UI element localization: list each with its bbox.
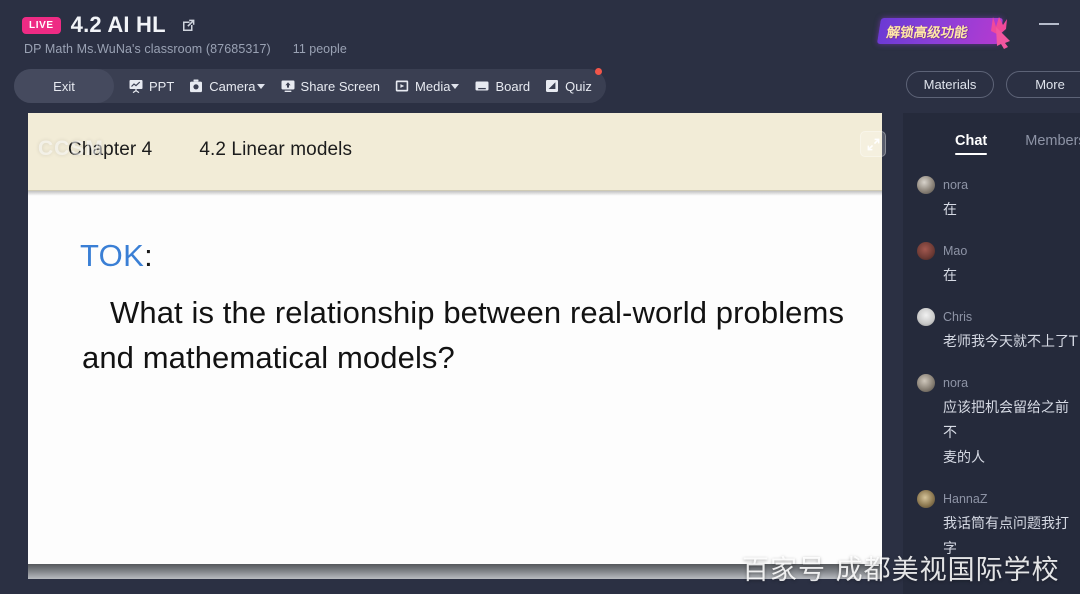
chat-message-text: 老师我今天就不上了T: [917, 327, 1080, 355]
chat-message: Chris 老师我今天就不上了T: [903, 307, 1080, 355]
toolbar-item-ppt[interactable]: PPT: [128, 78, 174, 94]
external-link-icon[interactable]: [180, 17, 197, 34]
tok-colon: :: [144, 238, 153, 273]
toolbar-item-quiz[interactable]: Quiz: [544, 78, 592, 94]
meeting-toolbar: Exit PPT Camera: [14, 69, 606, 103]
avatar: [917, 490, 935, 508]
meeting-subtitle-row: DP Math Ms.WuNa's classroom (87685317) 1…: [24, 42, 347, 56]
slide-topic-label: 4.2 Linear models: [199, 139, 352, 161]
chat-message-text: 我话筒有点问题我打字: [917, 509, 1080, 562]
chat-message: HannaZ 我话筒有点问题我打字: [903, 489, 1080, 562]
chat-panel: Chat Members nora 在 Mao 在: [903, 113, 1080, 594]
avatar: [917, 308, 935, 326]
promo-banner[interactable]: 解锁高级功能: [879, 16, 1019, 46]
avatar: [917, 242, 935, 260]
tab-members[interactable]: Members: [1025, 133, 1080, 155]
chat-message-text: 在: [917, 195, 1080, 223]
share-screen-icon: [280, 78, 296, 94]
toolbar-item-board[interactable]: Board: [474, 78, 530, 94]
tok-question: What is the relationship between real-wo…: [82, 290, 862, 380]
chat-message: nora 在: [903, 175, 1080, 223]
slide-body: TOK: What is the relationship between re…: [28, 196, 882, 579]
chat-message-author: nora: [943, 376, 968, 390]
toolbar-item-share-screen[interactable]: Share Screen: [280, 78, 381, 94]
minimize-icon: [1039, 23, 1059, 25]
slide-header: Chapter 4 4.2 Linear models: [28, 113, 882, 191]
media-icon: [394, 78, 410, 94]
toolbar-item-share-screen-label: Share Screen: [301, 79, 381, 94]
more-button[interactable]: More: [1006, 71, 1080, 98]
promo-cursor-icon: [977, 13, 1017, 49]
exit-button[interactable]: Exit: [14, 69, 114, 103]
slide-bottom-bar: [28, 564, 882, 579]
slide-view[interactable]: Chapter 4 4.2 Linear models CCSM TOK: Wh…: [28, 113, 882, 579]
tok-question-text: What is the relationship between real-wo…: [82, 295, 844, 375]
chat-message: nora 应该把机会留给之前不 麦的人: [903, 373, 1080, 471]
fullscreen-icon[interactable]: [860, 131, 886, 157]
slide-chapter-label: Chapter 4: [68, 139, 152, 161]
tok-label: TOK:: [80, 238, 153, 274]
top-bar: LIVE 4.2 AI HL DP Math Ms.WuNa's classro…: [0, 0, 1080, 66]
toolbar-item-board-label: Board: [495, 79, 530, 94]
meeting-title-row: LIVE 4.2 AI HL: [22, 12, 197, 38]
meeting-app-window: LIVE 4.2 AI HL DP Math Ms.WuNa's classro…: [0, 0, 1080, 594]
chat-message-author: Chris: [943, 310, 972, 324]
toolbar-item-media-label: Media: [415, 79, 450, 94]
toolbar-item-media[interactable]: Media: [394, 78, 450, 94]
chat-message-author: nora: [943, 178, 968, 192]
toolbar-item-quiz-label: Quiz: [565, 79, 592, 94]
materials-button[interactable]: Materials: [906, 71, 994, 98]
presentation-stage: Chapter 4 4.2 Linear models CCSM TOK: Wh…: [14, 113, 902, 594]
avatar: [917, 176, 935, 194]
board-icon: [474, 78, 490, 94]
live-badge: LIVE: [22, 17, 61, 34]
tok-text: TOK: [80, 238, 144, 273]
chat-message: Mao 在: [903, 241, 1080, 289]
toolbar-item-ppt-label: PPT: [149, 79, 174, 94]
media-chevron-down-icon[interactable]: [451, 84, 459, 89]
toolbar-right-buttons: Materials More: [906, 71, 1080, 98]
page-title: 4.2 AI HL: [71, 12, 166, 38]
ppt-icon: [128, 78, 144, 94]
quiz-notification-dot: [595, 68, 602, 75]
toolbar-item-camera-label: Camera: [209, 79, 255, 94]
toolbar-item-camera[interactable]: Camera: [188, 78, 255, 94]
avatar: [917, 374, 935, 392]
chat-message-text: 在: [917, 261, 1080, 289]
chat-message-text: 应该把机会留给之前不 麦的人: [917, 393, 1080, 471]
people-count: 11 people: [293, 42, 347, 56]
minimize-button[interactable]: [1036, 14, 1062, 34]
chat-message-list[interactable]: nora 在 Mao 在 Chris 老师我今天就不上了T: [903, 175, 1080, 594]
camera-chevron-down-icon[interactable]: [257, 84, 265, 89]
chat-message-author: HannaZ: [943, 492, 987, 506]
chat-message-author: Mao: [943, 244, 967, 258]
classroom-name: DP Math Ms.WuNa's classroom (87685317): [24, 42, 271, 56]
chat-panel-tabs: Chat Members: [903, 127, 1080, 161]
tab-chat[interactable]: Chat: [955, 133, 987, 155]
quiz-icon: [544, 78, 560, 94]
camera-icon: [188, 78, 204, 94]
